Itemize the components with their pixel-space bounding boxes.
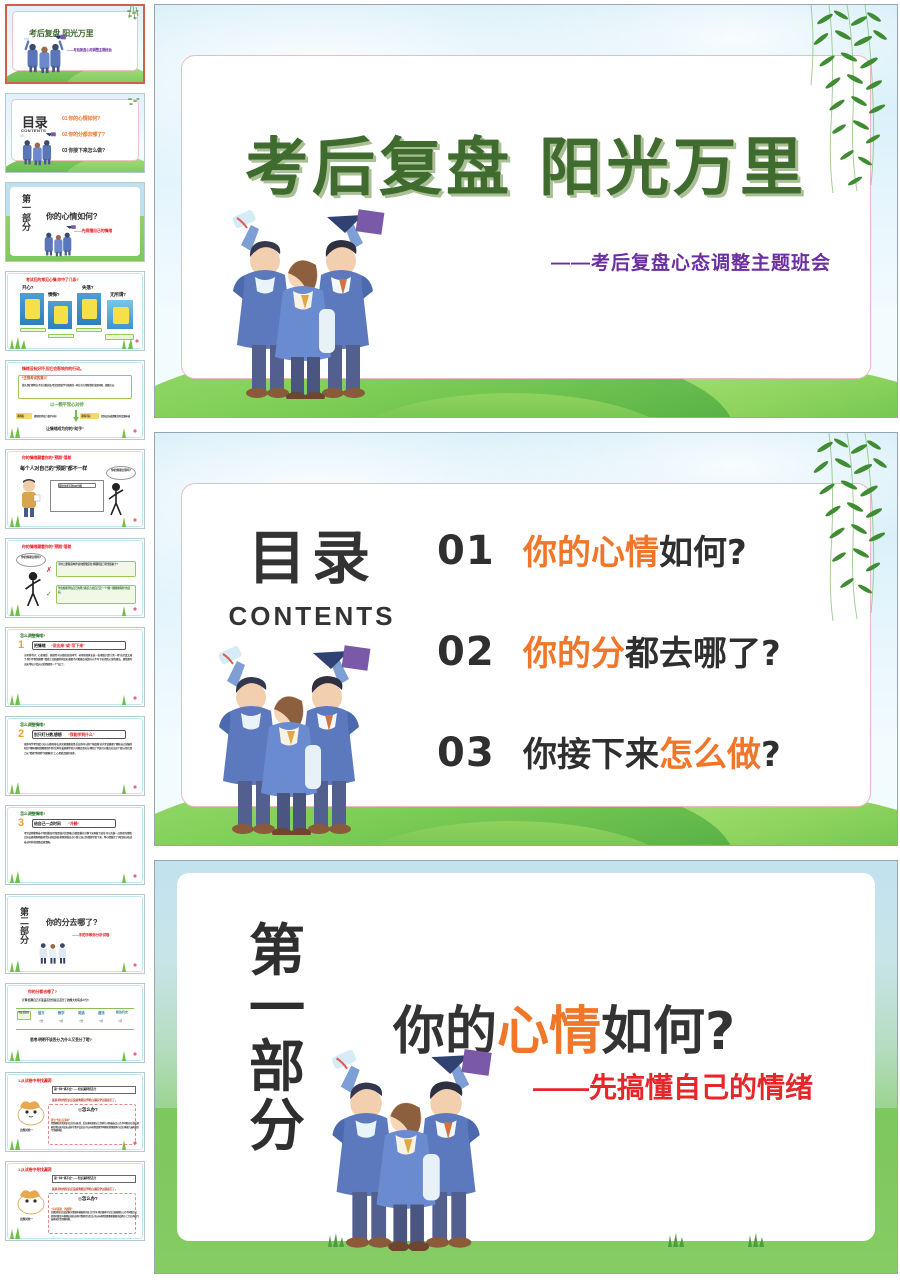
- grass-icon: [8, 1225, 30, 1239]
- grass-icon: [665, 1233, 685, 1247]
- thumb13-tag: 第一种:“真不会”——知识漏洞型丢分: [54, 1087, 96, 1091]
- slide-thumbnail-4[interactable]: 考试后的常见心情,你中了几条? 开心? 懊悔? 失落? 无所谓?: [5, 271, 145, 351]
- thumb4-label-3: 失落?: [82, 285, 93, 291]
- cat-illustration: [14, 1184, 48, 1216]
- grass-icon: [120, 780, 142, 794]
- toc-plain: 都去哪了?: [625, 634, 781, 674]
- thumb7-good: 学会客观评估自己的努力和实力,给自己定一个“跳一跳能够得到”的目标。: [58, 587, 134, 595]
- thumb7-bad: 平时上课常走神,作业也经常应付,却期待自己考全班前十?: [58, 563, 134, 567]
- thumb2-heading-en: CONTENTS: [21, 128, 46, 133]
- thumb4-label-1: 开心?: [22, 285, 33, 291]
- toc-plain-before: 你接下来: [523, 735, 659, 775]
- toc-item-03[interactable]: 03 你接下来怎么做?: [437, 727, 781, 776]
- thumb14-tag: 第一种:“真不会”——知识漏洞型丢分: [54, 1176, 96, 1180]
- thumb8-titleA: 把情绪: [34, 643, 45, 649]
- table-of-contents: 01 你的心情如何? 02 你的分都去哪了? 03 你接下来怎么做?: [437, 525, 781, 776]
- thumb3-subtitle: ——先搞懂自己的情绪: [74, 228, 112, 234]
- grass-icon: [745, 1233, 765, 1247]
- thumb12-col-1: 语文: [38, 1010, 44, 1015]
- thumb14-desc: 就是考时的知识点没搞清楚没学明白,确实学过就是忘了。: [52, 1187, 118, 1191]
- check-icon: ✓: [46, 590, 52, 598]
- thumb5-body: 首先,我们要明白,不论分数高低,考试是检验学习效果的一种方式,它帮助我们发现问题…: [22, 384, 132, 388]
- thumb14-howto: ◎怎么办?: [78, 1196, 98, 1202]
- toc-number: 03: [437, 730, 523, 776]
- contents-heading-zh: 目录: [217, 511, 407, 595]
- thumb9-body: 很多同学考完就只关心分数和排名,其实更重要的是,反应你可以换个角度想:这次考试暴…: [24, 743, 132, 756]
- grass-icon: [8, 691, 30, 705]
- grass-icon: [120, 1047, 142, 1061]
- thumb7-heading: 你的情绪藏着你的“预期”落差: [22, 544, 71, 550]
- thumb12-col-4: 道法: [98, 1010, 104, 1015]
- stick-figure-icon: [106, 482, 126, 516]
- thumb8-body: 当考得不好、心里难受、很想哭,可以跟信任的同学、老师或者家长说一说,哪怕只是大哭…: [24, 654, 132, 667]
- grass-icon: [8, 1136, 30, 1150]
- thumb12-heading: 你的分都去哪了?: [28, 989, 57, 995]
- slide-canvas-area: 考后复盘 阳光万里 ——考后复盘心态调整主题班会: [150, 0, 900, 1286]
- toc-highlight: 怎么做: [659, 735, 761, 775]
- grass-icon: [8, 424, 30, 438]
- slide1-title: 考后复盘 阳光万里: [155, 117, 897, 208]
- presentation-viewer: 考后复盘 阳光万里 ——考后复盘心态调整主题班会: [0, 0, 900, 1286]
- toc-item-01[interactable]: 01 你的心情如何?: [437, 525, 781, 574]
- slide-thumbnail-2[interactable]: 目录 CONTENTS 01 你的心情如何? 02 你的分都去哪了? 03 你接…: [5, 93, 145, 173]
- grass-icon: [8, 513, 30, 527]
- slide-thumbnail-14[interactable]: 1.从试卷中寻找漏洞 第一种:“真不会”——知识漏洞型丢分 就是考时的知识点没搞…: [5, 1161, 145, 1241]
- slide3-title: 你的心情如何?: [393, 989, 735, 1064]
- slide-thumbnail-7[interactable]: 你的情绪藏着你的“预期”落差 你的预期合理吗? 平时上课常走神,作业也经常应付,…: [5, 538, 145, 618]
- thumb4-label-2: 懊悔?: [48, 292, 59, 298]
- thumb13-answer-highlight: 建立“知识点清单”: [51, 1118, 70, 1122]
- slide3-subtitle: ——先搞懂自己的情绪: [533, 1066, 813, 1106]
- slide-thumbnail-sidebar[interactable]: 考后复盘 阳光万里 ——考后复盘心态调整主题班会: [0, 0, 150, 1286]
- grass-icon: [120, 869, 142, 883]
- slide-thumbnail-13[interactable]: 1.从试卷中寻找漏洞 第一种:“真不会”——知识漏洞型丢分 就是考时的知识点没搞…: [5, 1072, 145, 1152]
- toc-number: 01: [437, 528, 523, 574]
- thumb13-heading: 1.从试卷中寻找漏洞: [18, 1078, 51, 1084]
- slide-thumbnail-11[interactable]: 第二部分 你的分去哪了? ——手把手教你分析试卷: [5, 894, 145, 974]
- cross-icon: ✗: [46, 566, 52, 574]
- grass-icon: [8, 1047, 30, 1061]
- thumb8-num: 1: [18, 639, 24, 651]
- thumb10-titleB: “冷静”: [68, 821, 79, 827]
- thumb4-label-4: 无所谓?: [110, 292, 126, 298]
- thumb6-bubble: 你的预期合理吗?: [108, 468, 134, 472]
- grass-icon: [8, 869, 30, 883]
- thumb2-item-1: 01 你的心情如何?: [62, 115, 100, 122]
- slide-thumbnail-10[interactable]: 怎么调整情绪? 3 给自己一点时间 “冷静” 考完试刚拿到卷子特别激动(不管是高…: [5, 805, 145, 885]
- grass-icon: [120, 602, 142, 616]
- thumb2-item-3: 03 你接下来怎么做?: [62, 147, 105, 154]
- thumb5-foot: 让情绪成为你的“助手”: [46, 426, 84, 432]
- thumb10-num: 3: [18, 817, 24, 829]
- slide-thumbnail-12[interactable]: 你的分都去哪了? 计算:结算自己不该该丢分但是又丢分了的题大约有多少分! 不该 …: [5, 983, 145, 1063]
- willow-icon: [119, 6, 141, 34]
- thumb12-cell-3: =分: [79, 1019, 83, 1023]
- grass-icon: [120, 1136, 142, 1150]
- thumb6-heading: 你的情绪藏着你的“预期”落差: [22, 455, 71, 461]
- thumb12-cell-5: =分: [118, 1019, 122, 1023]
- toc-item-02[interactable]: 02 你的分都去哪了?: [437, 626, 781, 675]
- thumb9-titleB: “我能学到什么”: [68, 732, 94, 738]
- thumb9-num: 2: [18, 728, 24, 740]
- arrow-down-icon: [72, 410, 80, 422]
- thumb9-titleA: 别只盯分数,想想: [34, 732, 62, 738]
- slide-thumbnail-1[interactable]: 考后复盘 阳光万里 ——考后复盘心态调整主题班会: [5, 4, 145, 84]
- toc-number: 02: [437, 629, 523, 675]
- grass-icon: [120, 513, 142, 527]
- thumb12-cell-4: =分: [99, 1019, 103, 1023]
- toc-plain: ?: [761, 735, 781, 775]
- thumb5-tagA-text: 继续保持动力,稳步向前: [34, 414, 56, 418]
- grass-icon: [8, 602, 30, 616]
- contents-heading-block: 目录 CONTENTS: [217, 511, 407, 632]
- student-figure-icon: [16, 478, 42, 518]
- thumb14-answer-highlight: “先补基础、再梳理”: [51, 1207, 72, 1211]
- thumb14-answer: 如果是知识点没掌握,先看课本基础的内容上打定牢,再回课本中记忆,该梳理的公式,不…: [51, 1212, 139, 1223]
- contents-heading-en: CONTENTS: [217, 601, 407, 632]
- thumb14-heading: 1.从试卷中寻找漏洞: [18, 1167, 51, 1173]
- toc-plain: 如何?: [659, 533, 747, 573]
- slide-thumbnail-5[interactable]: 情绪没有好坏,但它会影响你的行动。 *正视考试的意义 首先,我们要明白,不论分数…: [5, 360, 145, 440]
- students-illustration: [34, 938, 78, 966]
- slide-thumbnail-8[interactable]: 怎么调整情绪? 1 把情绪 “说出来”或“写下来” 当考得不好、心里难受、很想哭…: [5, 627, 145, 707]
- willow-icon: [120, 94, 142, 122]
- thumb12-instruction: 计算:结算自己不该该丢分但是又丢分了的题大约有多少分!: [22, 998, 88, 1002]
- thumb12-col-5: 政治/历史: [116, 1010, 128, 1014]
- thumb10-titleA: 给自己一点时间: [34, 821, 61, 827]
- thumb5-heading: 情绪没有好坏,但它会影响你的行动。: [22, 366, 84, 372]
- thumb12-row-label: 不该 丢的分: [18, 1012, 30, 1015]
- thumb13-howto: ◎怎么办?: [78, 1107, 98, 1113]
- thumb11-title: 你的分去哪了?: [46, 917, 98, 928]
- thumb13-answer: 把错题和涉及知识点正先记录,然、后在课本或笔记上找到它,对照着标注公式,不同要点…: [51, 1123, 139, 1134]
- grass-icon: [120, 691, 142, 705]
- toc-highlight: 你的心情: [523, 533, 659, 573]
- toc-highlight: 你的分: [523, 634, 625, 674]
- thumb13-desc: 就是考时的知识点没搞清楚没学明白,确实学过就是忘了。: [52, 1098, 118, 1102]
- cat-illustration: [14, 1095, 48, 1127]
- thumb5-tagB: 考得不好: [81, 414, 91, 418]
- slide-thumbnail-9[interactable]: 怎么调整情绪? 2 别只盯分数,想想 “我能学到什么” 很多同学考完就只关心分数…: [5, 716, 145, 796]
- grass-icon: [120, 335, 142, 349]
- thumb6-board: 我这次考不到120分呢: [59, 484, 82, 488]
- slide-3[interactable]: 第一部分 你的心情如何? ——先搞懂自己的情绪: [154, 860, 898, 1274]
- thumb5-tagB-text: 把失误当成提醒,及时查漏补缺: [101, 414, 130, 418]
- grass-icon: [120, 424, 142, 438]
- content-card: [181, 55, 871, 379]
- grass-icon: [8, 958, 30, 972]
- thumb13-label-left: 这题对准一: [20, 1128, 33, 1132]
- grass-icon: [325, 1233, 345, 1247]
- thumb14-label-left: 这题对准一: [20, 1217, 33, 1221]
- thumb7-bubble: 你的预期合理吗?: [18, 555, 44, 559]
- thumb12-cell-1: =分: [39, 1019, 43, 1023]
- slide1-subtitle: ——考后复盘心态调整主题班会: [551, 248, 831, 275]
- slide-1[interactable]: 考后复盘 阳光万里 ——考后复盘心态调整主题班会: [154, 4, 898, 418]
- thumb5-mid: 以一颗平常心对待: [50, 402, 84, 408]
- slide3-title-after: 如何?: [601, 1002, 735, 1062]
- thumb12-col-3: 英语: [78, 1010, 84, 1015]
- grass-icon: [8, 780, 30, 794]
- thumb1-title: 考后复盘 阳光万里: [29, 28, 93, 39]
- thumb11-section-label: 第二部分: [20, 908, 33, 946]
- slide3-title-highlight: 心情: [497, 1002, 601, 1062]
- thumb6-line: 每个人对自己的“预期”都不一样: [20, 465, 87, 472]
- thumb8-titleB: “说出来”或“写下来”: [51, 643, 85, 649]
- thumb12-cell-2: =分: [59, 1019, 63, 1023]
- slide-2[interactable]: 目录 CONTENTS 01 你的心情如何? 02 你的分都去哪了?: [154, 432, 898, 846]
- thumb10-body: 考完试刚拿到卷子特别激动(不管是高兴还是难过),都是最先冷静下来再做下结论,可以…: [24, 832, 132, 845]
- thumb4-heading: 考试后的常见心情,你中了几条?: [26, 277, 79, 283]
- grass-icon: [120, 958, 142, 972]
- thumb12-think: 思考:明明不该丢分,为什么又丢分了呢?: [30, 1038, 92, 1043]
- thumb5-sub1: *正视考试的意义: [22, 376, 47, 381]
- thumb1-subtitle: ——考后复盘心态调整主题班会: [67, 47, 112, 52]
- grass-icon: [8, 335, 30, 349]
- thumb2-item-2: 02 你的分都去哪了?: [62, 131, 105, 138]
- thumb5-tagA: 考得好: [17, 414, 24, 418]
- thumb3-section-label: 第一部分: [22, 195, 36, 233]
- slide3-title-before: 你的: [393, 1002, 497, 1062]
- thumb12-col-2: 数学: [58, 1010, 64, 1015]
- slide-thumbnail-6[interactable]: 你的情绪藏着你的“预期”落差 每个人对自己的“预期”都不一样 你的预期合理吗? …: [5, 449, 145, 529]
- slide-thumbnail-3[interactable]: 第一部分 你的心情如何? ——先搞懂自己的情绪: [5, 182, 145, 262]
- thumb3-title: 你的心情如何?: [46, 211, 98, 222]
- section-label: 第一部分: [229, 923, 325, 1156]
